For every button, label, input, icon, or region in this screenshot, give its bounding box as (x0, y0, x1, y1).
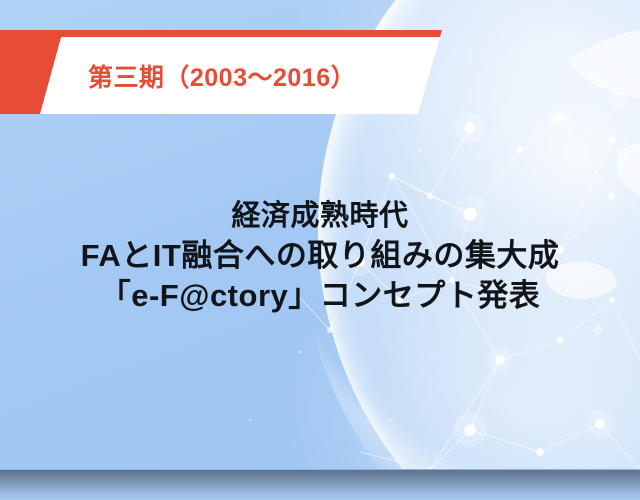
headline-block: 経済成熟時代 FAとIT融合への取り組みの集大成 「e-F@ctory」コンセプ… (0, 198, 640, 316)
headline-line-3: 「e-F@ctory」コンセプト発表 (0, 276, 640, 316)
headline-line-2: FAとIT融合への取り組みの集大成 (0, 236, 640, 276)
slide-canvas: 第三期（2003〜2016） 経済成熟時代 FAとIT融合への取り組みの集大成 … (0, 0, 640, 500)
banner-top-stripe (0, 30, 442, 37)
period-banner: 第三期（2003〜2016） (0, 30, 442, 114)
bottom-gradient-band (0, 470, 640, 500)
banner-label: 第三期（2003〜2016） (0, 37, 420, 114)
headline-line-1: 経済成熟時代 (0, 198, 640, 236)
